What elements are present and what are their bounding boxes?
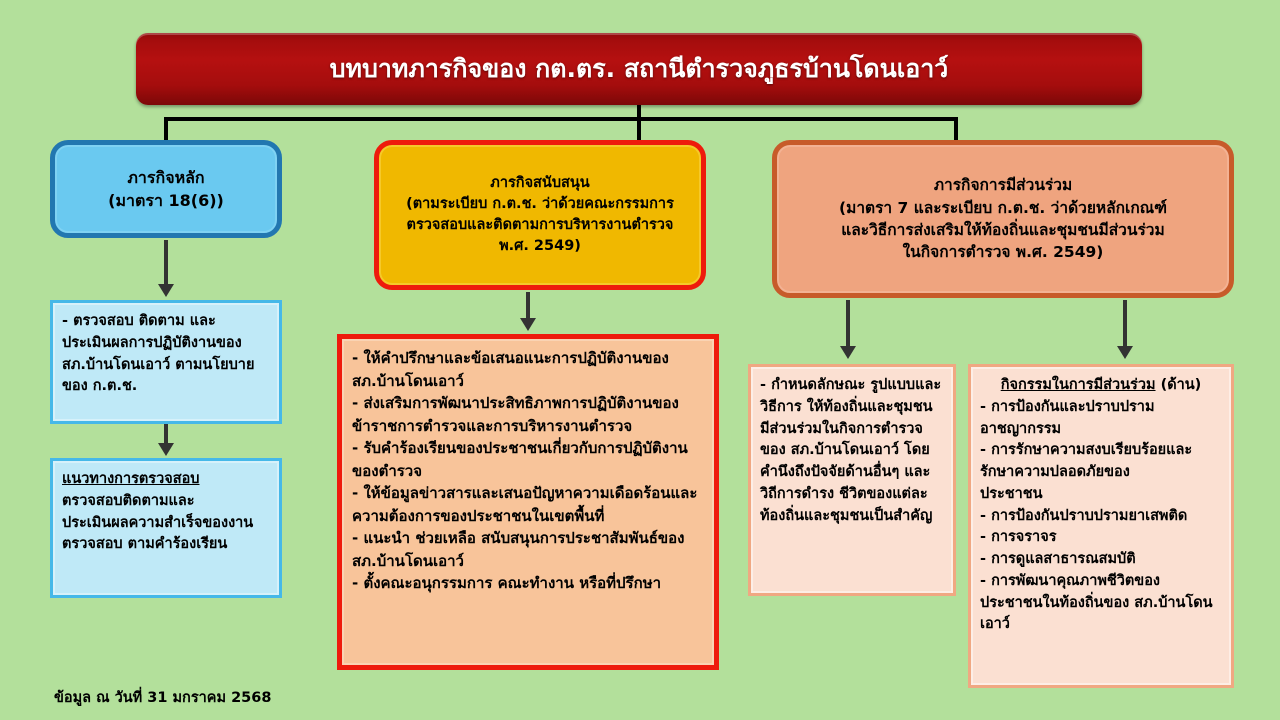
support-mission-subtitle-1: (ตามระเบียบ ก.ต.ช. ว่าด้วยคณะกรรมการ — [406, 194, 674, 215]
connector-horizontal-bus — [164, 117, 958, 121]
participation-mission-subtitle-3: ในกิจการตำรวจ พ.ศ. 2549) — [839, 241, 1167, 263]
arrow-support-to-detail-line — [526, 292, 530, 320]
participation-mission-title: ภารกิจการมีส่วนร่วม — [839, 174, 1167, 196]
arrow-detail1-to-detail2-head — [158, 443, 174, 456]
arrow-main-to-detail1-line — [164, 240, 168, 286]
detail-support-item-4: - ให้ข้อมูลข่าวสารและเสนอปัญหาความเดือดร… — [352, 482, 704, 527]
detail-main-mission-inspection: - ตรวจสอบ ติดตาม และ ประเมินผลการปฏิบัติ… — [50, 300, 282, 424]
detail-main-2-line-2: ประเมินผลความสำเร็จของงาน — [62, 513, 270, 535]
detail-main-1-line-2: ประเมินผลการปฏิบัติงานของ — [62, 333, 270, 355]
detail-main-2-line-1: ตรวจสอบติดตามและ — [62, 491, 270, 513]
detail-main-2-line-3: ตรวจสอบ ตามคำร้องเรียน — [62, 534, 270, 556]
detail-participation-forms: - กำหนดลักษณะ รูปแบบและวิธีการ ให้ท้องถิ… — [748, 364, 956, 596]
detail-part-2-heading: กิจกรรมในการมีส่วนร่วม — [1001, 377, 1156, 393]
detail-participation-activities: กิจกรรมในการมีส่วนร่วม (ด้าน) - การป้องก… — [968, 364, 1234, 688]
detail-main-1-line-4: ของ ก.ต.ช. — [62, 376, 270, 398]
detail-part-2-item-2: - การรักษาความสงบเรียบร้อยและรักษาความปล… — [980, 440, 1222, 484]
support-mission-title: ภารกิจสนับสนุน — [406, 173, 674, 194]
arrow-participation-to-detail1-head — [840, 346, 856, 359]
connector-drop-right — [954, 117, 958, 140]
detail-part-2-item-6: - การดูแลสาธารณสมบัติ — [980, 549, 1222, 571]
detail-support-item-3: - รับคำร้องเรียนของประชาชนเกี่ยวกับการปฏ… — [352, 437, 704, 482]
detail-part-1-text: - กำหนดลักษณะ รูปแบบและวิธีการ ให้ท้องถิ… — [760, 375, 944, 527]
detail-part-2-item-7: - การพัฒนาคุณภาพชีวิตของประชาชนในท้องถิ่… — [980, 571, 1222, 636]
participation-mission-subtitle-2: และวิธีการส่งเสริมให้ท้องถิ่นและชุมชนมีส… — [839, 219, 1167, 241]
main-mission-subtitle: (มาตรา 18(6)) — [108, 189, 224, 212]
detail-main-mission-guidelines: แนวทางการตรวจสอบ ตรวจสอบติดตามและ ประเมิ… — [50, 458, 282, 598]
detail-part-2-item-3: ประชาชน — [980, 484, 1222, 506]
detail-part-2-item-4: - การป้องกันปราบปรามยาเสพติด — [980, 506, 1222, 528]
detail-main-1-line-1: - ตรวจสอบ ติดตาม และ — [62, 311, 270, 333]
arrow-participation-to-detail2-head — [1117, 346, 1133, 359]
arrow-support-to-detail-head — [520, 318, 536, 331]
detail-support-item-6: - ตั้งคณะอนุกรรมการ คณะทำงาน หรือที่ปรึก… — [352, 572, 704, 595]
detail-main-1-line-3: สภ.บ้านโดนเอาว์ ตามนโยบาย — [62, 355, 270, 377]
detail-part-2-heading-suffix: (ด้าน) — [1156, 377, 1202, 393]
detail-support-mission-list: - ให้คำปรึกษาและข้อเสนอแนะการปฏิบัติงานข… — [337, 334, 719, 670]
box-main-mission[interactable]: ภารกิจหลัก (มาตรา 18(6)) — [50, 140, 282, 238]
detail-part-2-item-5: - การจราจร — [980, 527, 1222, 549]
detail-support-item-2: - ส่งเสริมการพัฒนาประสิทธิภาพการปฏิบัติง… — [352, 392, 704, 437]
main-mission-title: ภารกิจหลัก — [108, 166, 224, 189]
page-title: บทบาทภารกิจของ กต.ตร. สถานีตำรวจภูธรบ้าน… — [330, 54, 949, 84]
participation-mission-subtitle-1: (มาตรา 7 และระเบียบ ก.ต.ช. ว่าด้วยหลักเก… — [839, 197, 1167, 219]
connector-title-stem — [637, 105, 641, 140]
arrow-participation-to-detail1-line — [846, 300, 850, 348]
connector-drop-left — [164, 117, 168, 140]
box-participation-mission[interactable]: ภารกิจการมีส่วนร่วม (มาตรา 7 และระเบียบ … — [772, 140, 1234, 298]
box-support-mission[interactable]: ภารกิจสนับสนุน (ตามระเบียบ ก.ต.ช. ว่าด้ว… — [374, 140, 706, 290]
arrow-participation-to-detail2-line — [1123, 300, 1127, 348]
detail-support-item-1: - ให้คำปรึกษาและข้อเสนอแนะการปฏิบัติงานข… — [352, 347, 704, 392]
detail-main-2-heading: แนวทางการตรวจสอบ — [62, 469, 270, 491]
support-mission-subtitle-3: พ.ศ. 2549) — [406, 236, 674, 257]
arrow-main-to-detail1-head — [158, 284, 174, 297]
footer-date-note: ข้อมูล ณ วันที่ 31 มกราคม 2568 — [54, 686, 271, 709]
diagram-canvas: บทบาทภารกิจของ กต.ตร. สถานีตำรวจภูธรบ้าน… — [0, 0, 1280, 720]
diagram-title-bar: บทบาทภารกิจของ กต.ตร. สถานีตำรวจภูธรบ้าน… — [136, 33, 1142, 105]
detail-support-item-5: - แนะนำ ช่วยเหลือ สนับสนุนการประชาสัมพัน… — [352, 527, 704, 572]
detail-part-2-item-1: - การป้องกันและปราบปรามอาชญากรรม — [980, 397, 1222, 441]
support-mission-subtitle-2: ตรวจสอบและติดตามการบริหารงานตำรวจ — [406, 215, 674, 236]
